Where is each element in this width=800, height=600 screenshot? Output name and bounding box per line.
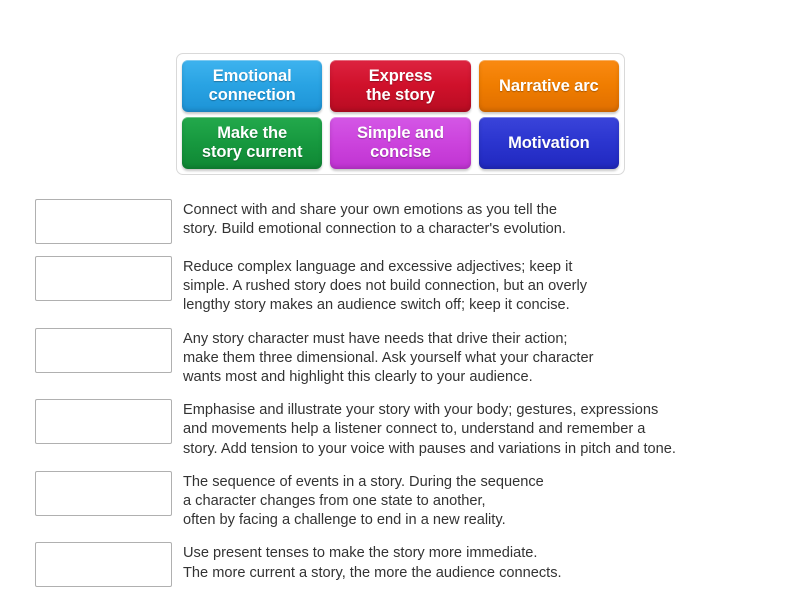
tile-label-line2: story current: [202, 143, 302, 162]
match-row: Any story character must have needs that…: [35, 328, 785, 388]
answer-tile-bank: Emotional connection Express the story N…: [176, 53, 625, 175]
drop-zone-6[interactable]: [35, 542, 172, 587]
clue-text-5: The sequence of events in a story. Durin…: [183, 471, 544, 531]
tile-label-line2: concise: [357, 143, 444, 162]
tile-label-line2: the story: [366, 86, 435, 105]
clue-text-3: Any story character must have needs that…: [183, 328, 593, 388]
tile-label-line1: Emotional: [209, 67, 296, 86]
tile-label-line1: Simple and: [357, 124, 444, 143]
tile-row-2: Make the story current Simple and concis…: [182, 117, 619, 169]
tile-emotional-connection[interactable]: Emotional connection: [182, 60, 322, 112]
tile-motivation[interactable]: Motivation: [479, 117, 619, 169]
clue-text-2: Reduce complex language and excessive ad…: [183, 256, 587, 316]
tile-make-the-story-current[interactable]: Make the story current: [182, 117, 322, 169]
match-row: Emphasise and illustrate your story with…: [35, 399, 785, 459]
clue-text-4: Emphasise and illustrate your story with…: [183, 399, 676, 459]
match-row: Use present tenses to make the story mor…: [35, 542, 785, 587]
tile-row-1: Emotional connection Express the story N…: [182, 60, 619, 112]
tile-narrative-arc[interactable]: Narrative arc: [479, 60, 619, 112]
tile-label-line2: connection: [209, 86, 296, 105]
drop-zone-2[interactable]: [35, 256, 172, 301]
drop-zone-5[interactable]: [35, 471, 172, 516]
tile-label-line1: Express: [366, 67, 435, 86]
match-list: Connect with and share your own emotions…: [35, 199, 785, 599]
match-row: Connect with and share your own emotions…: [35, 199, 785, 244]
clue-text-6: Use present tenses to make the story mor…: [183, 542, 562, 582]
drop-zone-1[interactable]: [35, 199, 172, 244]
match-row: Reduce complex language and excessive ad…: [35, 256, 785, 316]
drop-zone-3[interactable]: [35, 328, 172, 373]
drop-zone-4[interactable]: [35, 399, 172, 444]
clue-text-1: Connect with and share your own emotions…: [183, 199, 566, 239]
match-row: The sequence of events in a story. Durin…: [35, 471, 785, 531]
tile-simple-and-concise[interactable]: Simple and concise: [330, 117, 470, 169]
tile-label-line1: Motivation: [508, 134, 590, 153]
tile-label-line1: Narrative arc: [499, 77, 599, 96]
tile-express-the-story[interactable]: Express the story: [330, 60, 470, 112]
tile-label-line1: Make the: [202, 124, 302, 143]
